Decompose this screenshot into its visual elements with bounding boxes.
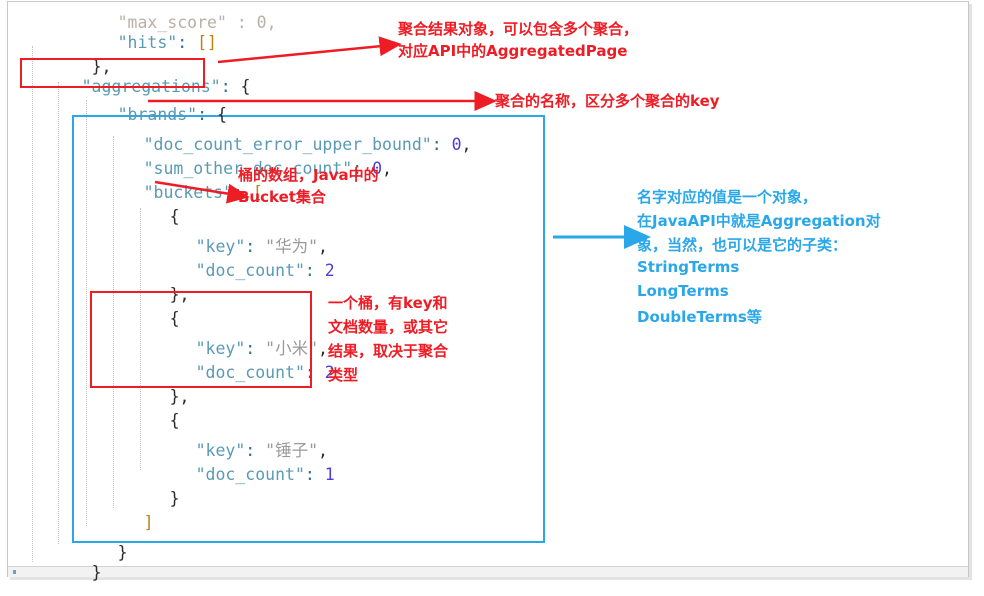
value-object-note-line5: LongTerms	[637, 282, 729, 300]
bucket-note-line3: 结果，取决于聚合	[328, 340, 448, 361]
buckets-note-line1: 桶的数组，Java中的	[238, 164, 379, 185]
code-line-root-close: }	[32, 546, 102, 596]
bucket-note-line4: 类型	[328, 364, 358, 385]
value-object-note-line1: 名字对应的值是一个对象，	[637, 186, 817, 207]
aggregations-note-line1: 聚合结果对象，可以包含多个聚合，	[398, 18, 638, 39]
value-object-note-line4: StringTerms	[637, 258, 739, 276]
screenshot-root: "max_score" : 0, "hits": [] }, "aggregat…	[0, 0, 984, 596]
bucket-note-line2: 文档数量，或其它	[328, 316, 448, 337]
aggregations-note-line2: 对应API中的AggregatedPage	[398, 40, 627, 61]
buckets-note-line2: Bucket集合	[238, 186, 326, 207]
value-object-note-line3: 象，当然，也可以是它的子类：	[637, 234, 847, 255]
value-object-note-line2: 在JavaAPI中就是Aggregation对	[637, 210, 881, 231]
aggregations-highlight-box	[20, 58, 205, 88]
brands-note-line1: 聚合的名称，区分多个聚合的key	[495, 90, 720, 111]
value-object-note-line6: DoubleTerms等	[637, 306, 762, 327]
bucket-highlight-box	[90, 291, 312, 388]
bucket-note-line1: 一个桶，有key和	[328, 292, 448, 313]
